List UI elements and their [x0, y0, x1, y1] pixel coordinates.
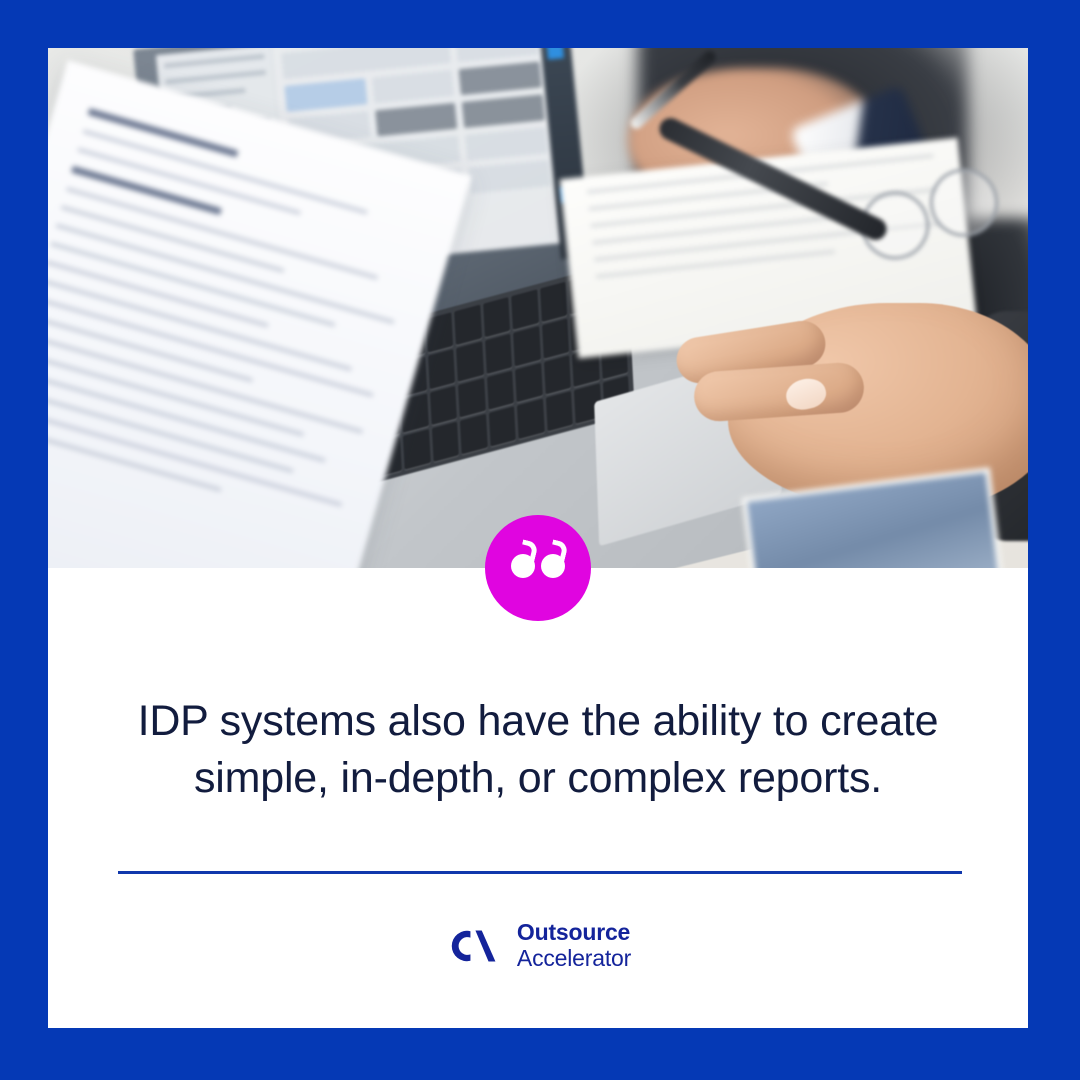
brand-logo[interactable]: Outsource Accelerator — [445, 920, 631, 972]
brand-name-line2: Accelerator — [517, 946, 631, 972]
divider — [118, 871, 962, 874]
photo-background — [48, 48, 1028, 568]
hero-photo — [48, 48, 1028, 568]
quotation-mark-icon — [511, 554, 565, 578]
brand-name-line1: Outsource — [517, 920, 631, 946]
quote-card: IDP systems also have the ability to cre… — [48, 568, 1028, 1028]
outsource-accelerator-monogram-icon — [445, 924, 503, 968]
quote-badge — [485, 515, 591, 621]
quote-poster: IDP systems also have the ability to cre… — [0, 0, 1080, 1080]
quote-text: IDP systems also have the ability to cre… — [118, 693, 958, 807]
brand-logo-wordmark: Outsource Accelerator — [517, 920, 631, 972]
